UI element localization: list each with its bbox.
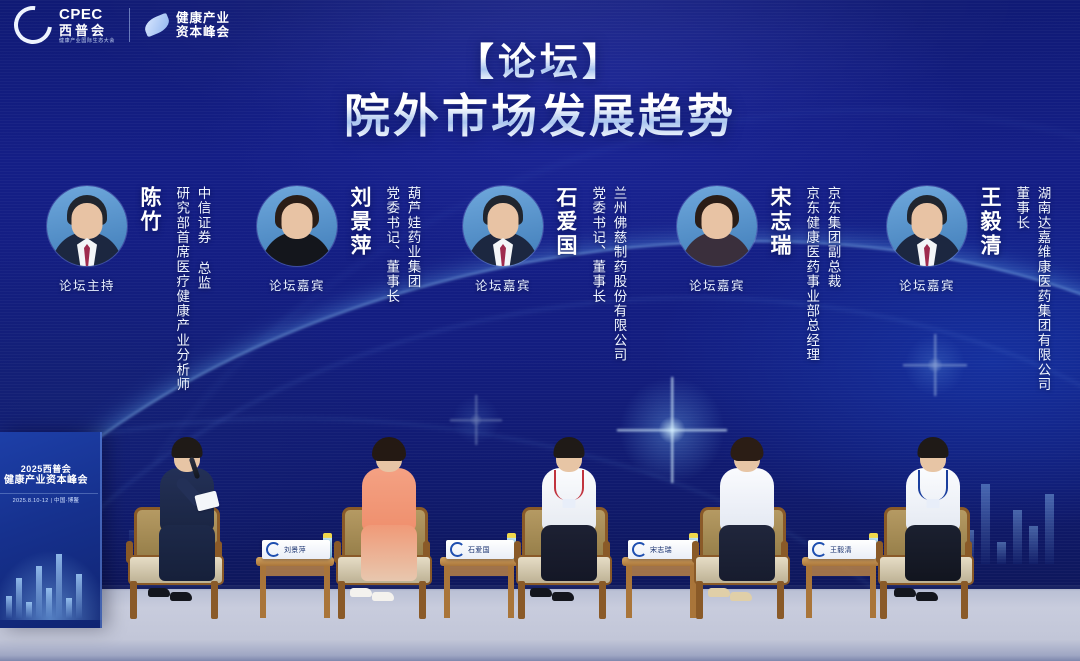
podium-date-location: 2025.8.10-12 | 中国·博鳌 (0, 493, 98, 505)
panelist-seat (510, 439, 640, 619)
cpec-logo: CPEC 西普会 健康产业国际生态大会 (14, 6, 115, 44)
summit-logo: 健康产业 资本峰会 (144, 11, 230, 39)
bar-chart-motif (6, 554, 82, 618)
podium-line2: 健康产业资本峰会 (0, 475, 98, 488)
conference-stage-photo: CPEC 西普会 健康产业国际生态大会 健康产业 资本峰会 【论坛】 院外市场发… (0, 0, 1080, 661)
logo-divider (129, 8, 130, 42)
speaker-affiliation: 兰州佛慈制药股份有限公司 (609, 186, 627, 362)
side-table: 王毅清 (802, 557, 880, 619)
forum-title-bracket: 【论坛】 (0, 42, 1080, 86)
avatar (47, 186, 127, 266)
ring-icon (632, 542, 647, 557)
ring-icon (812, 542, 827, 557)
speaker-role: 论坛嘉宾 (269, 275, 325, 294)
speaker-card: 论坛主持 陈竹 中信证券 总监 研究部首席医疗健康产业分析师 (42, 186, 211, 392)
speaker-role: 论坛嘉宾 (899, 275, 955, 294)
speaker-card: 论坛嘉宾 刘景萍 葫芦娃药业集团 党委书记、董事长 (252, 186, 421, 304)
ring-icon (450, 542, 465, 557)
speaker-name: 王毅清 (974, 186, 1004, 258)
speaker-affiliation: 湖南达嘉维康医药集团有限公司 (1033, 186, 1051, 392)
nameplate-text: 石爱国 (468, 545, 490, 555)
nameplate: 石爱国 (446, 540, 514, 559)
nameplate: 宋志瑞 (628, 540, 696, 559)
speaker-affiliation: 京东健康医药事业部总经理 (802, 186, 820, 362)
speaker-name: 宋志瑞 (764, 186, 794, 258)
ring-icon (6, 0, 59, 52)
event-logo-bar: CPEC 西普会 健康产业国际生态大会 健康产业 资本峰会 (14, 6, 230, 44)
nameplate-text: 刘景萍 (284, 545, 306, 555)
avatar (463, 186, 543, 266)
speaker-affiliation: 京东集团副总裁 (823, 186, 841, 362)
avatar (257, 186, 337, 266)
podium-line1: 2025西普会 (0, 464, 98, 475)
podium-banner: 2025西普会 健康产业资本峰会 2025.8.10-12 | 中国·博鳌 (0, 432, 102, 628)
nameplate-text: 王毅清 (830, 545, 852, 555)
nameplate: 王毅清 (808, 540, 876, 559)
speaker-affiliation: 党委书记、董事长 (382, 186, 400, 304)
speaker-affiliation: 党委书记、董事长 (588, 186, 606, 362)
nameplate: 刘景萍 (262, 540, 330, 559)
speaker-card: 论坛嘉宾 石爱国 兰州佛慈制药股份有限公司 党委书记、董事长 (458, 186, 627, 362)
side-table: 刘景萍 (256, 557, 334, 619)
speaker-role: 论坛嘉宾 (689, 275, 745, 294)
speaker-affiliation: 葫芦娃药业集团 (403, 186, 421, 304)
panelist-seat (122, 439, 262, 619)
logo-subtitle: 健康产业国际生态大会 (59, 39, 115, 44)
summit-logo-line1: 健康产业 (176, 11, 230, 25)
panelist-seat (872, 439, 1012, 619)
forum-title: 【论坛】 院外市场发展趋势 (0, 42, 1080, 145)
side-table: 石爱国 (440, 557, 518, 619)
forum-title-main: 院外市场发展趋势 (0, 88, 1080, 146)
panelist-seat (688, 439, 818, 619)
avatar (677, 186, 757, 266)
speaker-name: 刘景萍 (344, 186, 374, 258)
speaker-affiliation: 董事长 (1012, 186, 1030, 392)
ring-icon (266, 542, 281, 557)
logo-abbr: CPEC (59, 7, 115, 22)
speaker-name: 陈竹 (134, 186, 164, 234)
leaf-icon (142, 13, 172, 38)
speaker-card: 论坛嘉宾 宋志瑞 京东集团副总裁 京东健康医药事业部总经理 (672, 186, 841, 362)
speaker-card: 论坛嘉宾 王毅清 湖南达嘉维康医药集团有限公司 董事长 (882, 186, 1051, 392)
nameplate-text: 宋志瑞 (650, 545, 672, 555)
speaker-role: 论坛嘉宾 (475, 275, 531, 294)
speaker-affiliation: 研究部首席医疗健康产业分析师 (172, 186, 190, 392)
avatar (887, 186, 967, 266)
speaker-affiliation: 中信证券 总监 (193, 186, 211, 392)
speaker-name: 石爱国 (550, 186, 580, 258)
summit-logo-line2: 资本峰会 (176, 25, 230, 39)
logo-name: 西普会 (59, 24, 115, 37)
speaker-role: 论坛主持 (59, 275, 115, 294)
speaker-strip: 论坛主持 陈竹 中信证券 总监 研究部首席医疗健康产业分析师 论坛嘉宾 刘景萍 … (0, 186, 1080, 436)
